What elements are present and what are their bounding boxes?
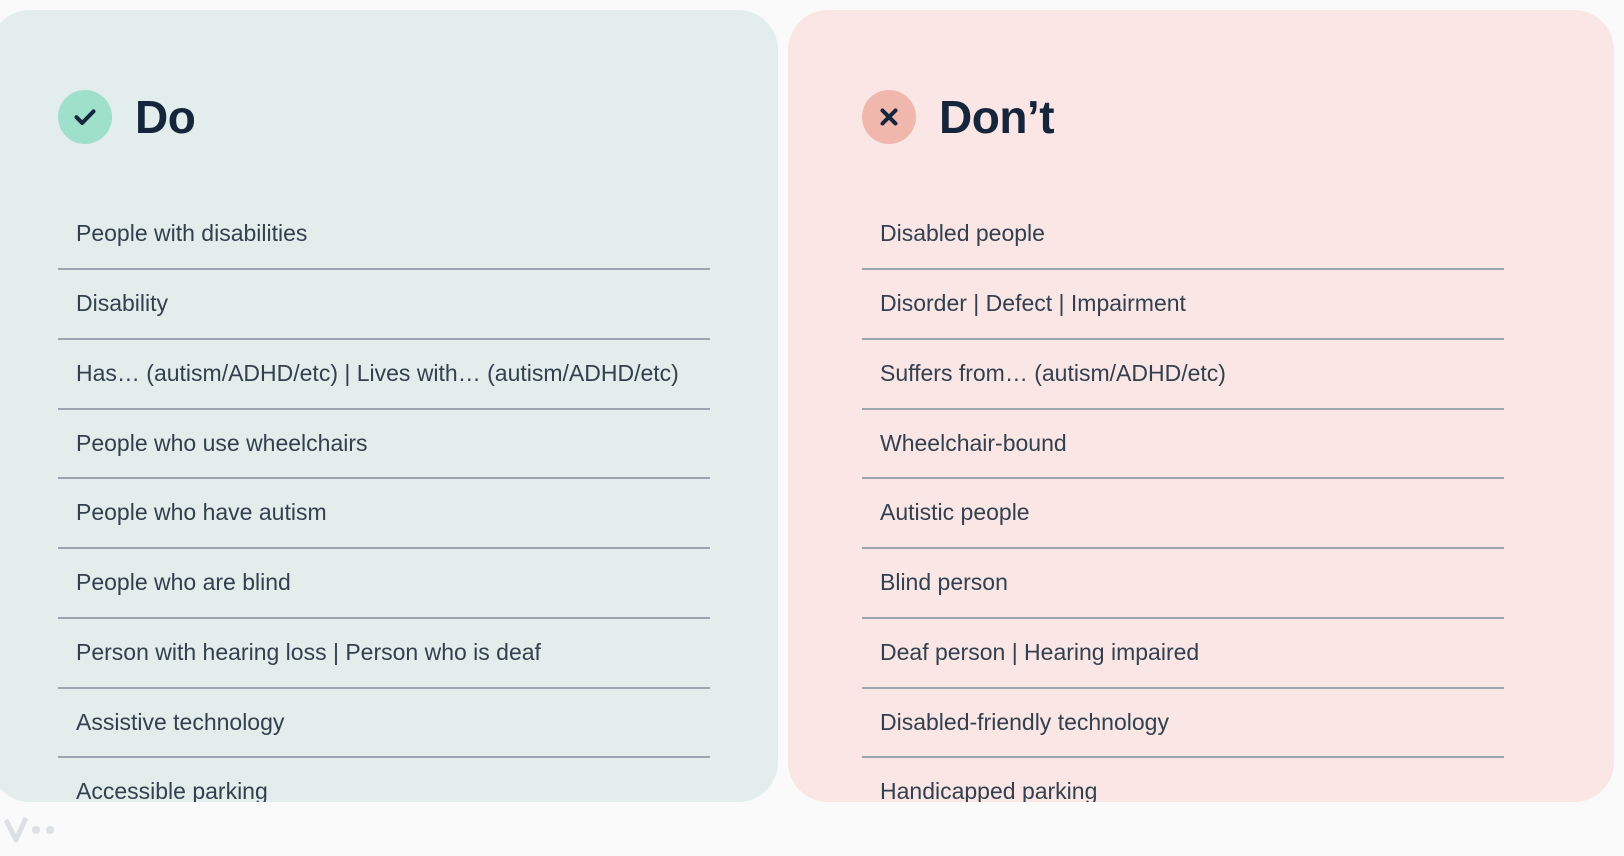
list-item: Suffers from… (autism/ADHD/etc) (862, 340, 1504, 410)
dont-card-title: Don’t (939, 94, 1054, 140)
list-item: Disability (58, 270, 710, 340)
check-icon (58, 90, 112, 144)
list-item: Accessible parking (58, 758, 710, 802)
close-icon (862, 90, 916, 144)
do-card-title: Do (135, 94, 195, 140)
list-item: People with disabilities (58, 200, 710, 270)
list-item: Handicapped parking (862, 758, 1504, 802)
list-item: Disorder | Defect | Impairment (862, 270, 1504, 340)
list-item: People who are blind (58, 549, 710, 619)
list-item: Assistive technology (58, 689, 710, 759)
list-item: Has… (autism/ADHD/etc) | Lives with… (au… (58, 340, 710, 410)
list-item: People who use wheelchairs (58, 410, 710, 480)
do-and-dont-comparison-board: Do People with disabilities Disability H… (0, 0, 1624, 842)
list-item: Person with hearing loss | Person who is… (58, 619, 710, 689)
list-item: Deaf person | Hearing impaired (862, 619, 1504, 689)
list-item: Blind person (862, 549, 1504, 619)
list-item: Autistic people (862, 479, 1504, 549)
do-card-header: Do (58, 10, 710, 200)
list-item: Disabled people (862, 200, 1504, 270)
list-item: Disabled-friendly technology (862, 689, 1504, 759)
list-item: People who have autism (58, 479, 710, 549)
list-item: Wheelchair-bound (862, 410, 1504, 480)
dont-list: Disabled people Disorder | Defect | Impa… (862, 200, 1504, 802)
do-card: Do People with disabilities Disability H… (0, 10, 778, 802)
dont-card: Don’t Disabled people Disorder | Defect … (788, 10, 1614, 802)
do-list: People with disabilities Disability Has…… (58, 200, 710, 802)
dont-card-header: Don’t (862, 10, 1504, 200)
do-card-content: Do People with disabilities Disability H… (58, 10, 710, 802)
watermark-glyph (4, 814, 68, 856)
dont-card-content: Don’t Disabled people Disorder | Defect … (862, 10, 1504, 802)
